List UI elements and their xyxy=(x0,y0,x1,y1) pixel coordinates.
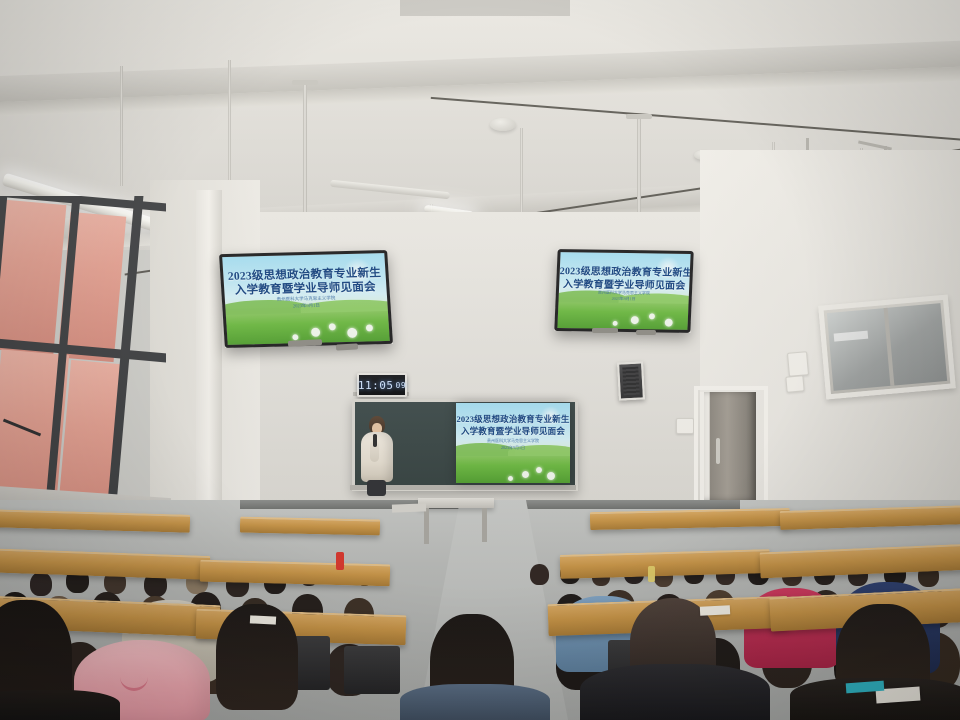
monitor-bracket xyxy=(592,328,618,333)
power-outlet[interactable] xyxy=(785,375,804,393)
slide-title-line1: 2023级思想政治教育专业新生 xyxy=(456,413,570,425)
interior-window xyxy=(818,295,956,400)
student-torso-dark xyxy=(580,664,770,720)
digital-wall-clock: 11:05 09 xyxy=(357,373,407,397)
monitor-mount-plate xyxy=(292,80,318,85)
presenter-legs xyxy=(367,480,386,496)
paper-sheet xyxy=(700,605,730,616)
monitor-bracket xyxy=(636,330,656,335)
ceiling-vent xyxy=(400,0,570,16)
smoke-detector-icon xyxy=(490,118,516,131)
door-handle-icon[interactable] xyxy=(716,438,720,464)
monitor-bracket xyxy=(336,343,358,350)
power-outlet[interactable] xyxy=(676,418,694,434)
slide-subtitle-date: 2023年9月1日 xyxy=(456,445,570,451)
desk-leg xyxy=(482,508,487,542)
side-desk xyxy=(392,503,426,512)
slide-subtitle-org: 贵州医科大学马克思主义学院 xyxy=(456,438,570,444)
left-window-wall xyxy=(0,196,166,526)
smiley-face-icon xyxy=(120,672,148,691)
wall-speaker xyxy=(617,361,645,400)
water-bottle xyxy=(648,566,655,582)
student-torso-dark xyxy=(0,690,120,720)
water-bottle xyxy=(336,552,344,570)
light-switch[interactable] xyxy=(787,351,809,377)
front-projection-screen: 2023级思想政治教育专业新生 入学教育暨学业导师见面会 贵州医科大学马克思主义… xyxy=(456,403,570,483)
student-desk xyxy=(240,517,380,536)
microphone-icon xyxy=(373,434,377,447)
clock-time: 11:05 xyxy=(358,379,394,392)
clock-seconds: 09 xyxy=(396,381,407,390)
student-desk xyxy=(200,560,390,587)
light-hanger-rod xyxy=(120,66,123,186)
slide-title-line2: 入学教育暨学业导师见面会 xyxy=(456,425,570,437)
lectern-desk xyxy=(418,498,494,508)
desk-leg xyxy=(424,508,429,544)
chair-back xyxy=(344,646,400,694)
student-head xyxy=(530,564,549,585)
student-head xyxy=(30,572,52,596)
ceiling-monitor-left: 2023级思想政治教育专业新生 入学教育暨学业导师见面会 贵州医科大学马克思主义… xyxy=(219,250,393,348)
student-torso-blue xyxy=(400,684,550,720)
window-pane xyxy=(0,199,66,354)
lecture-hall-photo: 11:05 09 2023级思想政治教育专业新生 入学教育暨学业导师见面会 贵州… xyxy=(0,0,960,720)
classroom-door[interactable] xyxy=(700,392,756,500)
presenter-figure xyxy=(360,416,394,494)
ceiling-monitor-right: 2023级思想政治教育专业新生 入学教育暨学业导师见面会 贵州医科大学马克思主义… xyxy=(554,249,693,333)
left-wall-pilaster xyxy=(196,190,222,510)
paper-sheet xyxy=(250,615,276,624)
monitor-mount-plate xyxy=(626,114,652,119)
